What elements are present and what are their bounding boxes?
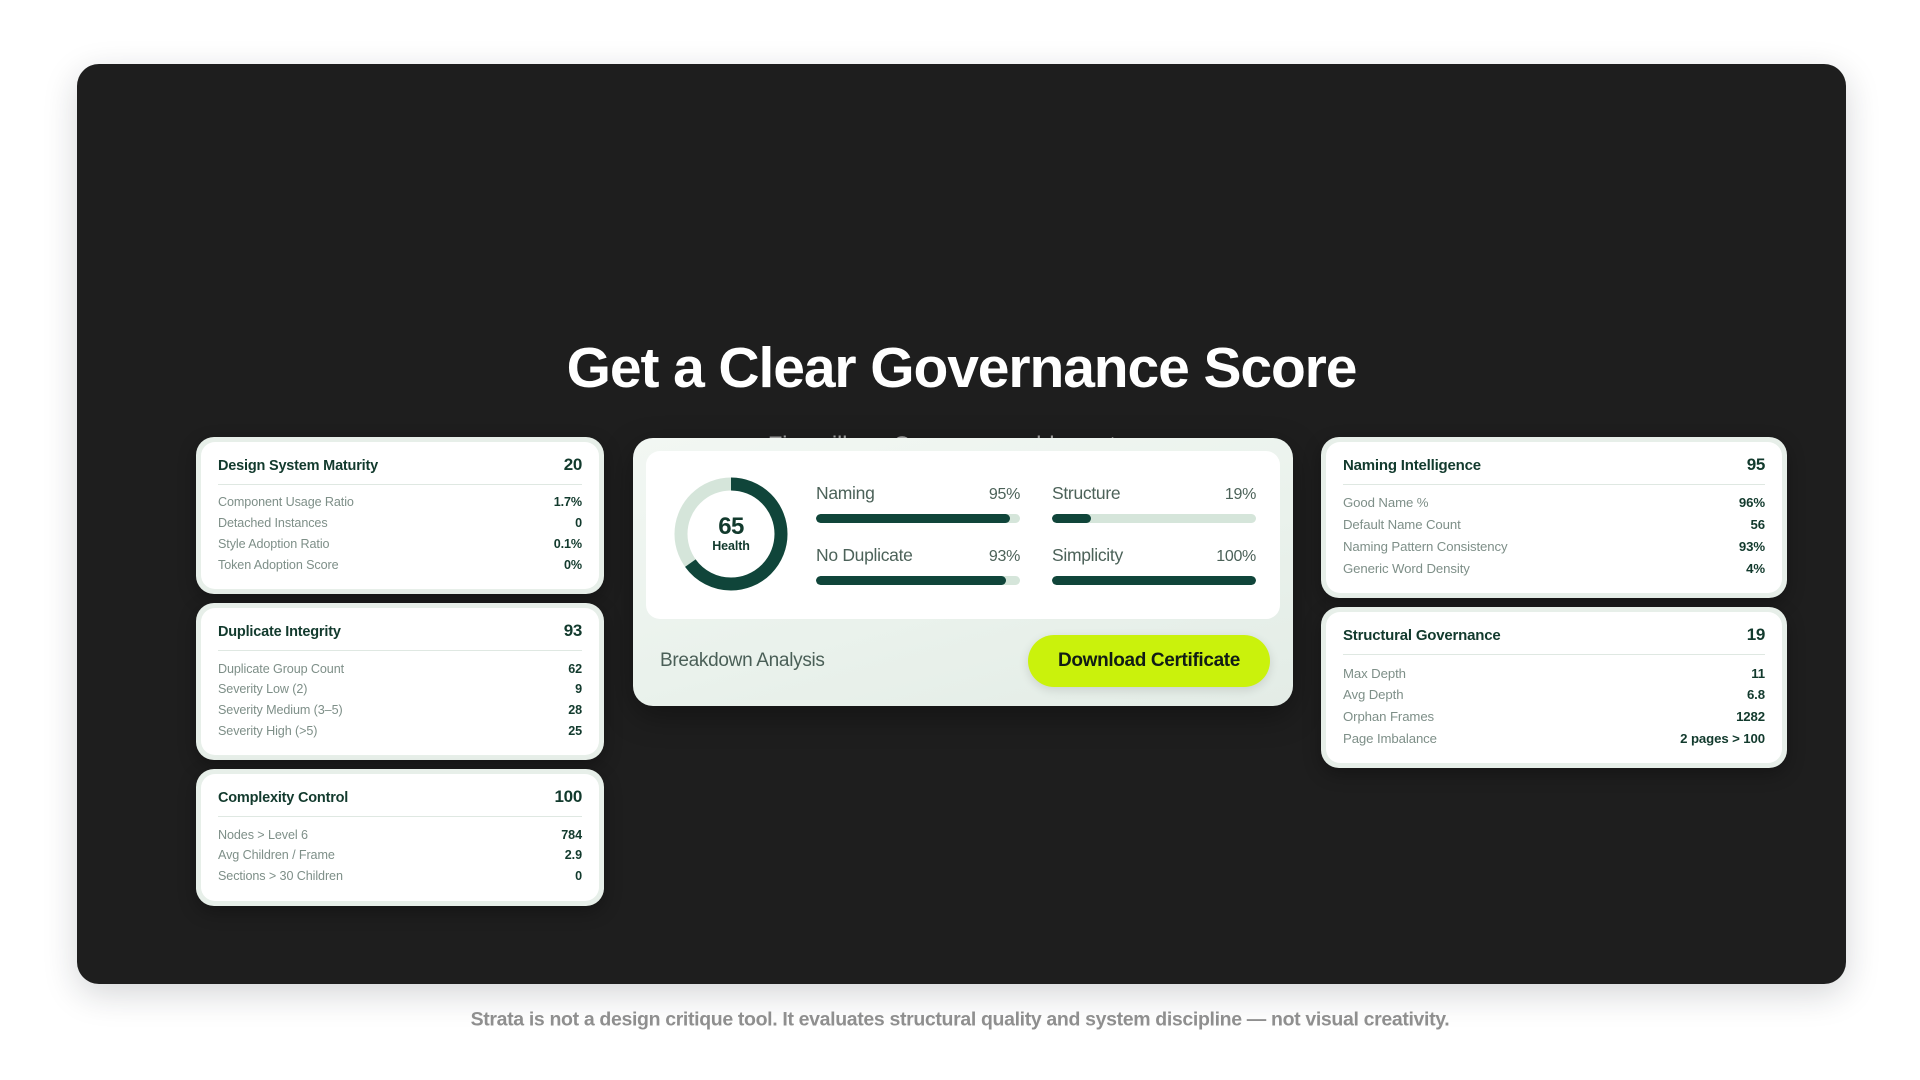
metric-structure: Structure 19% <box>1052 483 1256 523</box>
table-row: Severity Medium (3–5) 28 <box>218 700 582 721</box>
card-structural-governance[interactable]: Structural Governance 19 Max Depth 11 Av… <box>1321 607 1787 768</box>
card-header: Naming Intelligence 95 <box>1343 455 1765 484</box>
table-row: Duplicate Group Count 62 <box>218 658 582 679</box>
row-value: 6.8 <box>1747 687 1765 702</box>
row-value: 9 <box>575 682 582 696</box>
card-title: Structural Governance <box>1343 627 1501 644</box>
card-title: Complexity Control <box>218 790 348 806</box>
row-value: 1282 <box>1736 709 1765 724</box>
row-label: Good Name % <box>1343 495 1428 510</box>
row-label: Orphan Frames <box>1343 709 1434 724</box>
row-value: 4% <box>1746 561 1765 576</box>
metric-no-duplicate: No Duplicate 93% <box>816 545 1020 585</box>
page-title: Get a Clear Governance Score <box>77 339 1846 399</box>
row-label: Sections > 30 Children <box>218 869 343 883</box>
left-metric-column: Design System Maturity 20 Component Usag… <box>196 437 604 906</box>
row-value: 2.9 <box>565 848 582 862</box>
table-row: Page Imbalance 2 pages > 100 <box>1343 727 1765 749</box>
card-score: 100 <box>555 787 582 807</box>
card-header: Duplicate Integrity 93 <box>218 621 582 650</box>
table-row: Naming Pattern Consistency 93% <box>1343 536 1765 558</box>
panel-footer: Breakdown Analysis Download Certificate <box>646 619 1280 693</box>
row-label: Component Usage Ratio <box>218 495 354 509</box>
table-row: Good Name % 96% <box>1343 492 1765 514</box>
footer-caption: Strata is not a design critique tool. It… <box>0 1009 1920 1032</box>
metric-label: Structure <box>1052 483 1120 504</box>
health-summary-card: 65 Health Naming 95% Structure <box>646 451 1280 619</box>
row-value: 62 <box>568 662 582 676</box>
divider <box>218 650 582 651</box>
row-value: 1.7% <box>554 495 582 509</box>
row-label: Token Adoption Score <box>218 558 339 572</box>
table-row: Severity Low (2) 9 <box>218 679 582 700</box>
card-header: Design System Maturity 20 <box>218 455 582 484</box>
progress-bar-fill <box>1052 576 1256 585</box>
row-value: 2 pages > 100 <box>1680 731 1765 746</box>
metric-value: 100% <box>1216 548 1256 566</box>
divider <box>218 816 582 817</box>
row-label: Page Imbalance <box>1343 731 1437 746</box>
card-header: Structural Governance 19 <box>1343 625 1765 654</box>
card-score: 95 <box>1747 455 1765 475</box>
card-duplicate-integrity[interactable]: Duplicate Integrity 93 Duplicate Group C… <box>196 603 604 760</box>
table-row: Generic Word Density 4% <box>1343 557 1765 579</box>
metric-label: Naming <box>816 483 875 504</box>
divider <box>1343 484 1765 485</box>
progress-bar-track <box>1052 514 1256 523</box>
row-label: Avg Children / Frame <box>218 848 335 862</box>
health-summary-panel: 65 Health Naming 95% Structure <box>633 438 1293 706</box>
row-label: Severity High (>5) <box>218 724 317 738</box>
breakdown-analysis-label: Breakdown Analysis <box>660 650 825 672</box>
row-label: Generic Word Density <box>1343 561 1470 576</box>
card-title: Duplicate Integrity <box>218 624 341 640</box>
table-row: Detached Instances 0 <box>218 513 582 534</box>
card-complexity-control[interactable]: Complexity Control 100 Nodes > Level 6 7… <box>196 769 604 905</box>
page-root: Get a Clear Governance Score Five pillar… <box>0 0 1920 1080</box>
metric-naming: Naming 95% <box>816 483 1020 523</box>
row-label: Severity Low (2) <box>218 682 307 696</box>
table-row: Default Name Count 56 <box>1343 514 1765 536</box>
card-naming-intelligence[interactable]: Naming Intelligence 95 Good Name % 96% D… <box>1321 437 1787 598</box>
progress-bar-track <box>1052 576 1256 585</box>
table-row: Nodes > Level 6 784 <box>218 824 582 845</box>
table-row: Max Depth 11 <box>1343 662 1765 684</box>
card-score: 93 <box>564 621 582 641</box>
metric-value: 95% <box>989 486 1020 504</box>
card-header: Complexity Control 100 <box>218 787 582 816</box>
metric-label: No Duplicate <box>816 545 913 566</box>
row-value: 0 <box>575 869 582 883</box>
row-label: Style Adoption Ratio <box>218 537 329 551</box>
card-title: Naming Intelligence <box>1343 457 1481 474</box>
table-row: Sections > 30 Children 0 <box>218 866 582 887</box>
card-title: Design System Maturity <box>218 458 378 474</box>
divider <box>218 484 582 485</box>
metric-simplicity: Simplicity 100% <box>1052 545 1256 585</box>
row-label: Avg Depth <box>1343 687 1403 702</box>
table-row: Style Adoption Ratio 0.1% <box>218 534 582 555</box>
health-score-value: 65 <box>718 515 744 539</box>
table-row: Component Usage Ratio 1.7% <box>218 492 582 513</box>
row-value: 11 <box>1751 666 1765 681</box>
download-certificate-button[interactable]: Download Certificate <box>1028 635 1270 687</box>
row-value: 93% <box>1739 539 1765 554</box>
table-row: Token Adoption Score 0% <box>218 554 582 575</box>
row-value: 25 <box>568 724 582 738</box>
metric-label: Simplicity <box>1052 545 1123 566</box>
row-value: 0.1% <box>554 537 582 551</box>
card-score: 19 <box>1747 625 1765 645</box>
row-label: Duplicate Group Count <box>218 662 344 676</box>
table-row: Orphan Frames 1282 <box>1343 706 1765 728</box>
progress-bar-track <box>816 514 1020 523</box>
health-donut-chart: 65 Health <box>670 473 792 595</box>
card-score: 20 <box>564 455 582 475</box>
row-value: 56 <box>1751 517 1765 532</box>
donut-center-labels: 65 Health <box>670 473 792 595</box>
card-design-system-maturity[interactable]: Design System Maturity 20 Component Usag… <box>196 437 604 594</box>
metric-value: 93% <box>989 548 1020 566</box>
progress-bar-track <box>816 576 1020 585</box>
progress-bar-fill <box>1052 514 1091 523</box>
row-value: 28 <box>568 703 582 717</box>
divider <box>1343 654 1765 655</box>
row-value: 0% <box>564 558 582 572</box>
row-value: 0 <box>575 516 582 530</box>
right-metric-column: Naming Intelligence 95 Good Name % 96% D… <box>1321 437 1787 768</box>
table-row: Avg Depth 6.8 <box>1343 684 1765 706</box>
health-score-label: Health <box>712 540 750 553</box>
table-row: Severity High (>5) 25 <box>218 720 582 741</box>
row-label: Default Name Count <box>1343 517 1461 532</box>
row-value: 96% <box>1739 495 1765 510</box>
row-value: 784 <box>561 828 582 842</box>
row-label: Detached Instances <box>218 516 328 530</box>
metric-value: 19% <box>1225 486 1256 504</box>
row-label: Naming Pattern Consistency <box>1343 539 1508 554</box>
pillar-metrics-grid: Naming 95% Structure 19% <box>816 483 1256 585</box>
row-label: Severity Medium (3–5) <box>218 703 343 717</box>
row-label: Max Depth <box>1343 666 1406 681</box>
progress-bar-fill <box>816 576 1006 585</box>
row-label: Nodes > Level 6 <box>218 828 308 842</box>
table-row: Avg Children / Frame 2.9 <box>218 845 582 866</box>
progress-bar-fill <box>816 514 1010 523</box>
